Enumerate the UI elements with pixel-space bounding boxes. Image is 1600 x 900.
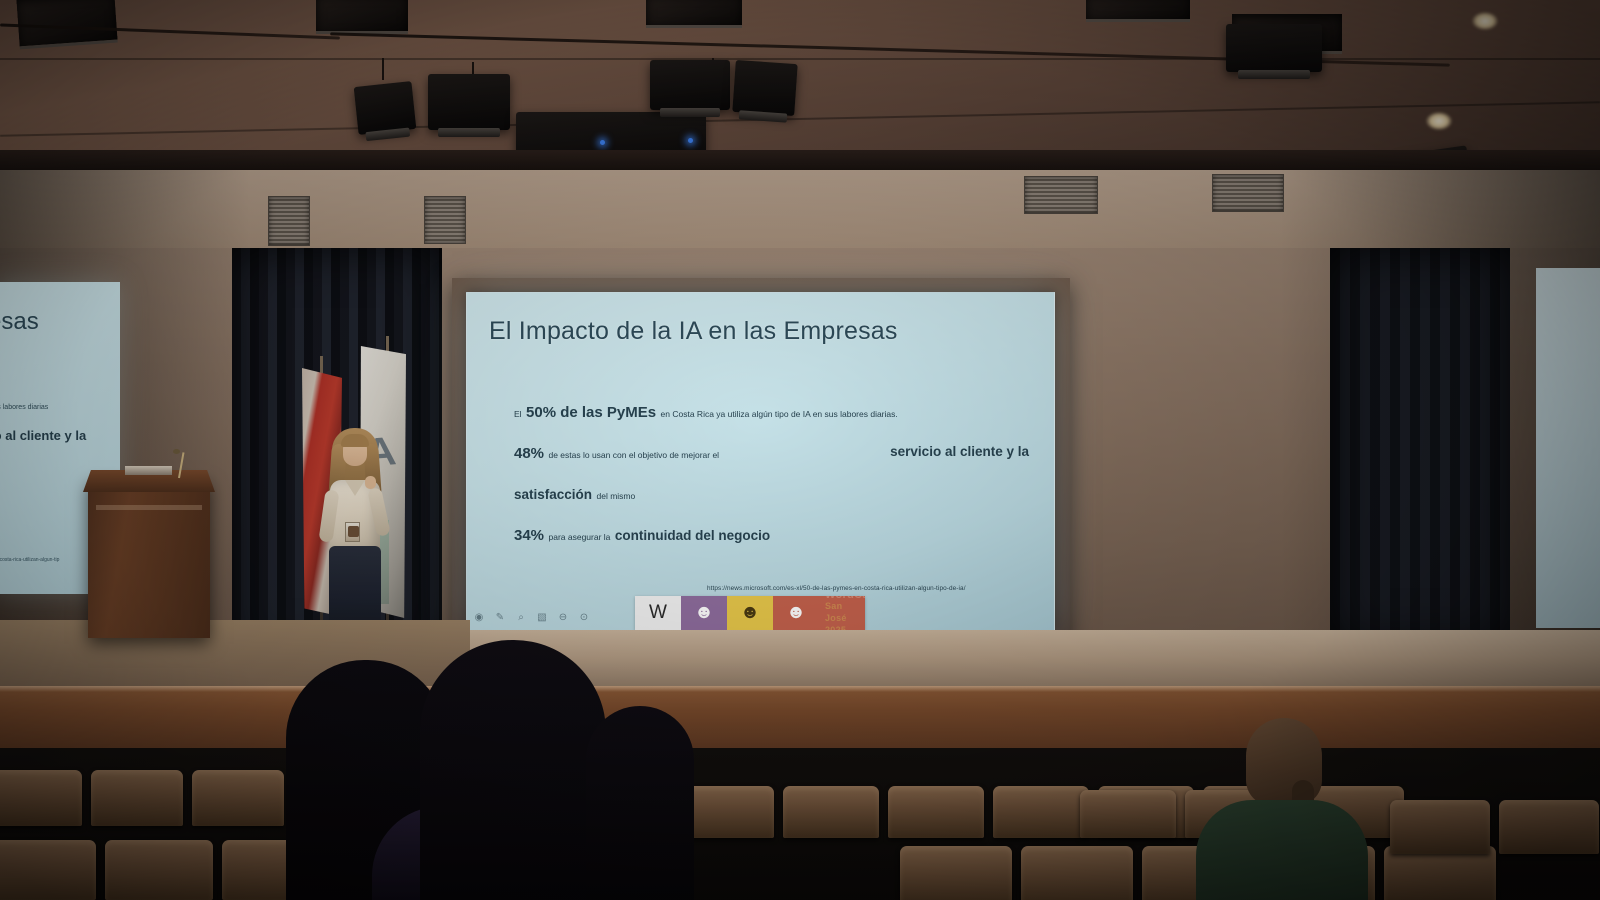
stage-curtain-right — [1330, 248, 1510, 648]
bullet-4-stat: 34% — [514, 527, 544, 544]
podium-microphone-head — [173, 449, 180, 454]
seat[interactable] — [888, 786, 984, 838]
seat[interactable] — [900, 846, 1012, 900]
ceiling-seam — [0, 58, 1600, 60]
tertiary-projection-sliver — [1536, 268, 1600, 628]
seat[interactable] — [783, 786, 879, 838]
stage-light — [428, 74, 510, 130]
speaker-on-stage — [318, 428, 392, 633]
wall-vent — [1212, 174, 1284, 212]
bullet-2-stat: 48% — [514, 445, 544, 462]
ceiling — [0, 0, 1600, 175]
stage-light — [354, 81, 417, 135]
stage-apron-highlight — [0, 686, 1600, 692]
seat[interactable] — [105, 840, 213, 900]
ceiling-lamp-box — [1086, 0, 1190, 22]
seat[interactable] — [993, 786, 1089, 838]
ceiling-downlight — [1426, 112, 1452, 130]
seat[interactable] — [1499, 800, 1599, 854]
left-screen-title-fragment: resas — [0, 308, 39, 336]
bullet-1-tail: en Costa Rica ya utiliza algún tipo de I… — [661, 409, 898, 419]
mascot-gorilla-icon: ☻ — [727, 596, 773, 630]
podium-laptop — [125, 466, 172, 475]
stage-light — [1226, 24, 1322, 72]
pen-icon[interactable]: ✎ — [494, 611, 506, 623]
zoom-icon[interactable]: ⌕ — [515, 611, 527, 623]
seat-row — [0, 770, 284, 826]
bullet-2-emphasis: servicio al cliente y la — [890, 444, 1029, 464]
seat-row — [1390, 800, 1599, 854]
slide-title: El Impacto de la IA en las Empresas — [489, 317, 898, 346]
slide-bullet-1: El 50% de las PyMEs en Costa Rica ya uti… — [514, 403, 1029, 423]
speaker-fringe — [341, 434, 369, 447]
bullet-4-tail: para asegurar la — [548, 532, 610, 542]
podium-trim — [96, 505, 202, 510]
speaker-hand — [365, 476, 376, 489]
wordcamp-wordmark: WordCamp San José 2025 — [819, 596, 865, 630]
equipment-led — [600, 140, 605, 145]
ceiling-lamp-box — [316, 0, 408, 34]
slide-bullet-3: satisfacción del mismo — [514, 485, 1029, 505]
seat[interactable] — [0, 770, 82, 826]
blank-screen-icon[interactable]: ▧ — [536, 611, 548, 623]
ceiling-downlight — [1472, 12, 1498, 30]
speaker-trousers — [329, 546, 381, 630]
bullet-4-emphasis: continuidad del negocio — [615, 528, 770, 543]
light-hanger — [382, 58, 384, 80]
slide-bullet-4: 34% para asegurar la continuidad del neg… — [514, 526, 1029, 546]
mascot-chef-icon: ☻ — [681, 596, 727, 630]
stage-apron — [0, 686, 1600, 754]
main-projection-screen: El Impacto de la IA en las Empresas El 5… — [466, 292, 1055, 632]
wall-vent — [424, 196, 466, 244]
attendee-green-shirt — [1196, 800, 1368, 900]
wooden-podium — [88, 478, 210, 638]
seat-row — [0, 840, 330, 900]
slide-bullet-2: 48% de estas lo usan con el objetivo de … — [514, 444, 1029, 464]
seat[interactable] — [1384, 846, 1496, 900]
seat[interactable] — [1080, 790, 1176, 838]
slide-source-url: https://news.microsoft.com/es-xl/50-de-l… — [707, 585, 966, 592]
presenter-toolbar[interactable]: ◉ ✎ ⌕ ▧ ⊖ ⊙ — [473, 611, 590, 623]
seat[interactable] — [91, 770, 183, 826]
wordcamp-logo-bar: W ☻ ☻ ☻ WordCamp San José 2025 — [635, 596, 865, 630]
bullet-2-tail: de estas lo usan con el objetivo de mejo… — [548, 450, 719, 460]
more-options-icon[interactable]: ⊖ — [557, 611, 569, 623]
left-screen-bold-line: vicio al cliente y la — [0, 428, 86, 443]
speaker-badge — [345, 522, 360, 542]
stage-light — [650, 60, 730, 110]
stage-light — [732, 60, 797, 116]
bullet-3-tail: del mismo — [597, 491, 636, 501]
seat[interactable] — [1021, 846, 1133, 900]
auditorium-scene: resas IA en sus labores diarias vicio al… — [0, 0, 1600, 900]
wordpress-logo-icon: W — [635, 596, 681, 630]
wordcamp-line2: San José 2025 — [825, 601, 865, 630]
advance-icon[interactable]: ⊙ — [578, 611, 590, 623]
wall-vent — [268, 196, 310, 246]
left-screen-small-line: IA en sus labores diarias — [0, 404, 48, 411]
bullet-3-stat: satisfacción — [514, 487, 592, 502]
audience-silhouette — [586, 706, 694, 900]
ceiling-lamp-box — [646, 0, 742, 28]
slide-body: El 50% de las PyMEs en Costa Rica ya uti… — [514, 403, 1029, 567]
bullet-1-lead: El — [514, 409, 522, 419]
left-screen-url-fragment: pymes-en-costa-rica-utilizan-algun-tip — [0, 557, 59, 563]
wall-vent — [1024, 176, 1098, 214]
seat[interactable] — [1390, 800, 1490, 854]
audience-silhouette — [420, 640, 606, 900]
bullet-1-stat: 50% de las PyMEs — [526, 404, 656, 421]
mascot-devil-icon: ☻ — [773, 596, 819, 630]
pointer-icon[interactable]: ◉ — [473, 611, 485, 623]
seat[interactable] — [192, 770, 284, 826]
seat[interactable] — [0, 840, 96, 900]
equipment-led — [688, 138, 693, 143]
